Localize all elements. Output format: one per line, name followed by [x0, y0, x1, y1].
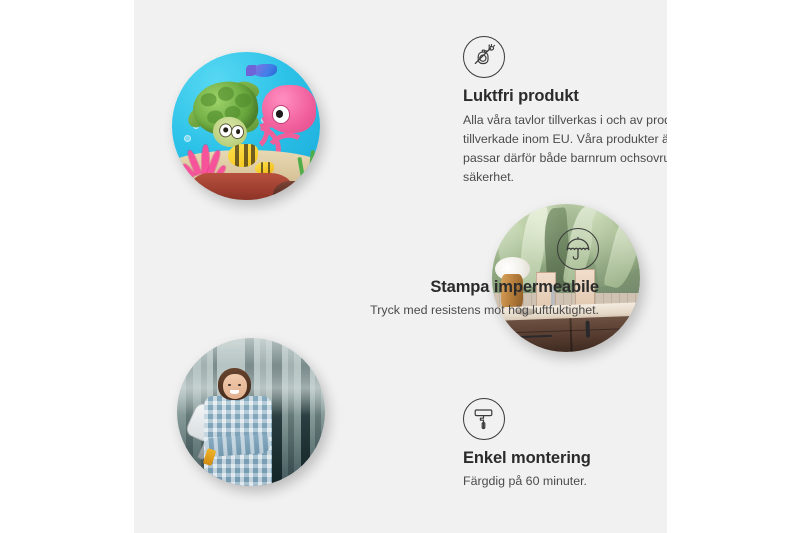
- feature-title: Luktfri produkt: [463, 87, 667, 106]
- icon-wrap: [463, 36, 667, 78]
- feature-block-odourless: Luktfri produkt Alla våra tavlor tillver…: [463, 36, 667, 186]
- feature-title: Stampa impermeabile: [294, 278, 599, 297]
- feature-block-waterproof: Stampa impermeabile Tryck med resistens …: [294, 228, 599, 320]
- striped-fish-icon: [228, 144, 258, 168]
- icon-wrap: [294, 228, 599, 278]
- feature-description: Färgdig på 60 minuter.: [463, 472, 667, 491]
- icon-wrap: [463, 398, 667, 440]
- blue-fish-tail-icon: [246, 65, 256, 75]
- woman-face-icon: [223, 374, 247, 399]
- feature-description: Alla våra tavlor tillverkas i och av pro…: [463, 111, 667, 186]
- feature-description: Tryck med resistens mot hög luftfuktighe…: [294, 301, 599, 320]
- umbrella-icon: [557, 228, 599, 270]
- feature-title: Enkel montering: [463, 449, 667, 468]
- painter-woman-forest-photo[interactable]: [177, 338, 325, 486]
- octopus-head-icon: [262, 85, 315, 134]
- no-odour-spray-bottle-icon: [463, 36, 505, 78]
- paint-roller-icon: [463, 398, 505, 440]
- wood-vanity-cabinet-icon: [500, 315, 640, 352]
- underwater-kids-scene-photo[interactable]: [172, 52, 320, 200]
- smile-icon: [230, 390, 239, 394]
- feature-block-assembly: Enkel montering Färgdig på 60 minuter.: [463, 398, 667, 491]
- infographic-canvas: Luktfri produkt Alla våra tavlor tillver…: [0, 0, 800, 533]
- content-panel: Luktfri produkt Alla våra tavlor tillver…: [134, 0, 667, 533]
